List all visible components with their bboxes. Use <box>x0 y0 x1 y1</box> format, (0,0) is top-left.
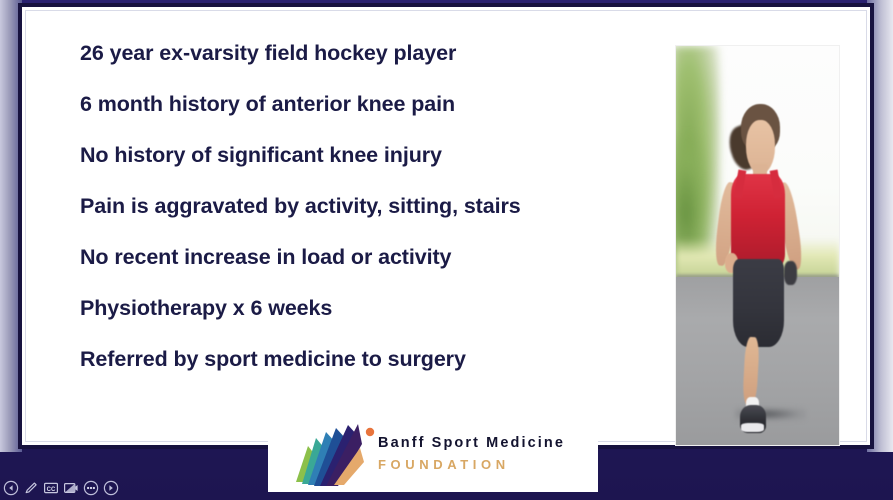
circle-ellipsis-icon <box>83 480 99 496</box>
more-button[interactable] <box>82 479 100 497</box>
bullet-item: Physiotherapy x 6 weeks <box>80 298 660 320</box>
slide-content: 26 year ex-varsity field hockey player 6… <box>25 10 867 442</box>
logo-subtitle: FOUNDATION <box>378 457 565 472</box>
logo-name: Banff Sport Medicine <box>378 436 565 452</box>
video-camera-icon <box>63 480 79 496</box>
video-button[interactable] <box>62 479 80 497</box>
svg-text:CC: CC <box>47 487 56 493</box>
bullet-item: Pain is aggravated by activity, sitting,… <box>80 196 660 218</box>
bullet-list: 26 year ex-varsity field hockey player 6… <box>80 43 660 400</box>
captions-button[interactable]: CC <box>42 479 60 497</box>
circle-arrow-right-icon <box>103 480 119 496</box>
runner-capris <box>733 259 784 347</box>
foundation-logo: Banff Sport Medicine FOUNDATION <box>268 418 598 492</box>
bullet-item: No history of significant knee injury <box>80 145 660 167</box>
bullet-item: Referred by sport medicine to surgery <box>80 349 660 371</box>
runner-right-hand <box>784 261 797 285</box>
runner-photo <box>675 45 840 446</box>
cc-icon: CC <box>43 480 59 496</box>
logo-dot-icon <box>366 428 374 436</box>
runner-shoe-sole <box>741 423 764 432</box>
logo-wordmark: Banff Sport Medicine FOUNDATION <box>378 436 565 472</box>
pencil-icon <box>23 480 39 496</box>
player-toolbar[interactable]: CC <box>2 479 120 497</box>
rewind-button[interactable] <box>2 479 20 497</box>
bullet-item: 26 year ex-varsity field hockey player <box>80 43 660 65</box>
presentation-slide: 26 year ex-varsity field hockey player 6… <box>18 3 874 449</box>
annotate-button[interactable] <box>22 479 40 497</box>
circle-arrow-left-icon <box>3 480 19 496</box>
bullet-item: 6 month history of anterior knee pain <box>80 94 660 116</box>
logo-mark-icon <box>290 422 380 486</box>
forward-button[interactable] <box>102 479 120 497</box>
video-player: 26 year ex-varsity field hockey player 6… <box>0 0 893 500</box>
bullet-item: No recent increase in load or activity <box>80 247 660 269</box>
